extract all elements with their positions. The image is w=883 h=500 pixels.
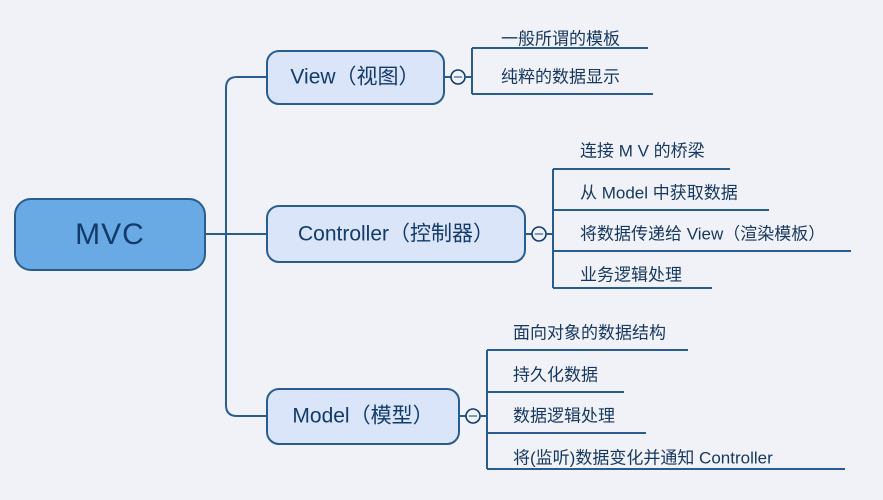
branch-model[interactable]: Model（模型） 面向对象的数据结构 持久化数据 数据逻辑处理	[267, 323, 845, 469]
mindmap-canvas: MVC View（视图） 一般所谓的模板 纯粹的数据显示	[0, 0, 883, 500]
branch-model-toggle[interactable]	[459, 409, 487, 423]
connector-root-to-model	[226, 234, 267, 416]
branch-controller-label: Controller（控制器）	[298, 223, 494, 246]
leaf-controller-3[interactable]: 业务逻辑处理	[553, 265, 712, 288]
branch-view-toggle[interactable]	[444, 70, 472, 84]
branch-view-label: View（视图）	[290, 66, 419, 89]
root-node[interactable]: MVC	[15, 199, 205, 270]
leaf-model-2[interactable]: 数据逻辑处理	[487, 406, 646, 433]
leaf-label: 数据逻辑处理	[513, 406, 615, 425]
leaf-view-0[interactable]: 一般所谓的模板	[472, 29, 648, 48]
leaf-label: 业务逻辑处理	[580, 265, 682, 284]
connector-root-to-view	[226, 77, 267, 234]
leaf-label: 面向对象的数据结构	[513, 323, 666, 342]
leaf-label: 一般所谓的模板	[501, 29, 620, 48]
leaf-view-1[interactable]: 纯粹的数据显示	[472, 67, 653, 94]
leaf-controller-2[interactable]: 将数据传递给 View（渲染模板）	[553, 224, 851, 251]
root-node-label: MVC	[75, 218, 145, 251]
root-connectors	[205, 77, 267, 416]
leaf-model-0[interactable]: 面向对象的数据结构	[487, 323, 688, 350]
leaf-controller-1[interactable]: 从 Model 中获取数据	[553, 183, 769, 210]
leaf-label: 纯粹的数据显示	[501, 67, 620, 86]
branch-view[interactable]: View（视图） 一般所谓的模板 纯粹的数据显示	[267, 29, 653, 104]
leaf-label: 连接 M V 的桥梁	[580, 141, 705, 160]
leaf-label: 将数据传递给 View（渲染模板）	[580, 224, 825, 243]
branch-controller-toggle[interactable]	[525, 227, 553, 241]
leaf-model-1[interactable]: 持久化数据	[487, 365, 624, 392]
leaf-label: 持久化数据	[513, 365, 598, 384]
branch-controller[interactable]: Controller（控制器） 连接 M V 的桥梁 从 Model 中获取数据…	[267, 141, 851, 288]
leaf-label: 将(监听)数据变化并通知 Controller	[513, 448, 773, 467]
branch-model-label: Model（模型）	[292, 405, 433, 428]
leaf-model-3[interactable]: 将(监听)数据变化并通知 Controller	[487, 448, 845, 469]
leaf-label: 从 Model 中获取数据	[580, 183, 738, 202]
leaf-controller-0[interactable]: 连接 M V 的桥梁	[553, 141, 730, 169]
